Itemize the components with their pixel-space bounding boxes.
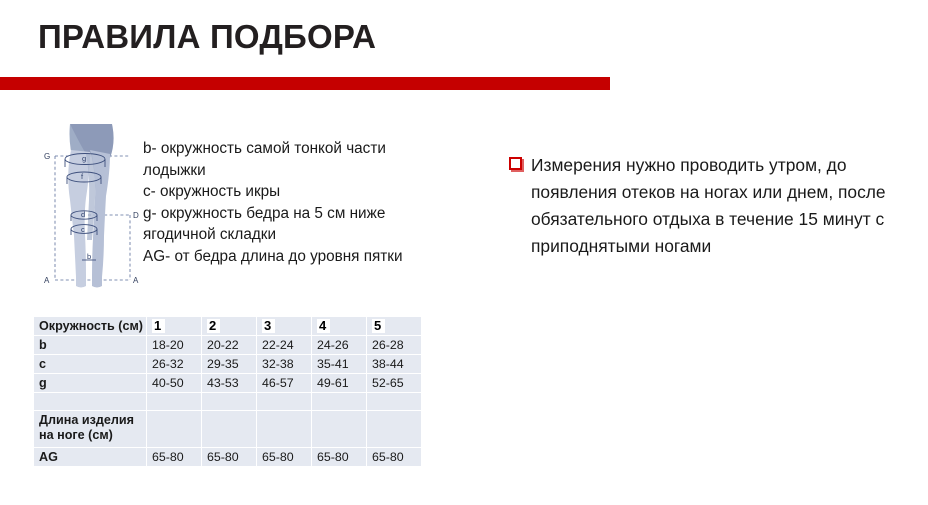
legend-line-ag: AG- от бедра длина до уровня пятки (143, 246, 439, 268)
axis-label-G: G (44, 152, 50, 161)
measurement-note: Измерения нужно проводить утром, до появ… (509, 152, 909, 260)
col-number-1: 1 (152, 319, 165, 333)
table-header-col-4: 4 (312, 317, 366, 335)
col-number-4: 4 (317, 319, 330, 333)
cell-c-4: 35-41 (312, 355, 366, 373)
legend-line-b: b- окружность самой тонкой части лодыжки (143, 138, 439, 181)
table-header-label: Окружность (см) (34, 317, 146, 335)
col-number-3: 3 (262, 319, 275, 333)
legend-line-g: g- окружность бедра на 5 см ниже ягодичн… (143, 203, 439, 246)
spacer-cell-5 (367, 393, 421, 410)
spacer-cell-2 (202, 393, 256, 410)
col-number-2: 2 (207, 319, 220, 333)
table-header-col-2: 2 (202, 317, 256, 335)
spacer-cell-3 (257, 393, 311, 410)
cell-ag-4: 65-80 (312, 448, 366, 466)
table-row: c 26-32 29-35 32-38 35-41 38-44 (34, 355, 421, 373)
section-label-length: Длина изделия на ноге (см) (34, 411, 146, 447)
cell-g-1: 40-50 (147, 374, 201, 392)
right-foot (92, 274, 102, 288)
cell-c-1: 26-32 (147, 355, 201, 373)
cell-ag-2: 65-80 (202, 448, 256, 466)
table-header-col-1: 1 (147, 317, 201, 335)
table-section-row: Длина изделия на ноге (см) (34, 411, 421, 447)
measure-label-c: c (81, 225, 85, 234)
row-label-b: b (34, 336, 146, 354)
table-header-col-5: 5 (367, 317, 421, 335)
left-foot (76, 274, 86, 288)
row-label-g: g (34, 374, 146, 392)
section-cell-3 (257, 411, 311, 447)
measure-label-b: b (87, 252, 91, 261)
table-row: b 18-20 20-22 22-24 24-26 26-28 (34, 336, 421, 354)
table-row: g 40-50 43-53 46-57 49-61 52-65 (34, 374, 421, 392)
table-spacer-row (34, 393, 421, 410)
col-number-5: 5 (372, 319, 385, 333)
axis-label-A-left: A (44, 276, 50, 285)
cell-c-2: 29-35 (202, 355, 256, 373)
section-cell-1 (147, 411, 201, 447)
table-row: AG 65-80 65-80 65-80 65-80 65-80 (34, 448, 421, 466)
cell-b-1: 18-20 (147, 336, 201, 354)
cell-ag-5: 65-80 (367, 448, 421, 466)
cell-g-5: 52-65 (367, 374, 421, 392)
measure-label-g: g (82, 154, 86, 163)
cell-b-4: 24-26 (312, 336, 366, 354)
axis-label-A-right: A (133, 276, 139, 285)
table-header-col-3: 3 (257, 317, 311, 335)
table-header-row: Окружность (см) 1 2 3 4 5 (34, 317, 421, 335)
cell-c-5: 38-44 (367, 355, 421, 373)
cell-b-5: 26-28 (367, 336, 421, 354)
spacer-cell-4 (312, 393, 366, 410)
measurement-note-text: Измерения нужно проводить утром, до появ… (531, 152, 909, 260)
cell-b-2: 20-22 (202, 336, 256, 354)
title-accent-rule (0, 77, 610, 90)
legend-line-c: c- окружность икры (143, 181, 439, 203)
section-cell-4 (312, 411, 366, 447)
section-cell-2 (202, 411, 256, 447)
cell-g-2: 43-53 (202, 374, 256, 392)
measurement-legend: b- окружность самой тонкой части лодыжки… (143, 138, 439, 267)
cell-ag-3: 65-80 (257, 448, 311, 466)
spacer-label (34, 393, 146, 410)
row-label-ag: AG (34, 448, 146, 466)
cell-ag-1: 65-80 (147, 448, 201, 466)
size-chart-table: Окружность (см) 1 2 3 4 5 b 18-20 20-22 … (33, 316, 422, 467)
cell-b-3: 22-24 (257, 336, 311, 354)
row-label-c: c (34, 355, 146, 373)
square-bullet-icon (509, 157, 522, 170)
measure-label-d: d (81, 210, 85, 219)
page-title: ПРАВИЛА ПОДБОРА (38, 18, 376, 56)
cell-g-3: 46-57 (257, 374, 311, 392)
leg-measurement-diagram: g f d c b G D A A (40, 114, 144, 292)
cell-c-3: 32-38 (257, 355, 311, 373)
section-cell-5 (367, 411, 421, 447)
spacer-cell-1 (147, 393, 201, 410)
axis-label-D: D (133, 211, 139, 220)
cell-g-4: 49-61 (312, 374, 366, 392)
